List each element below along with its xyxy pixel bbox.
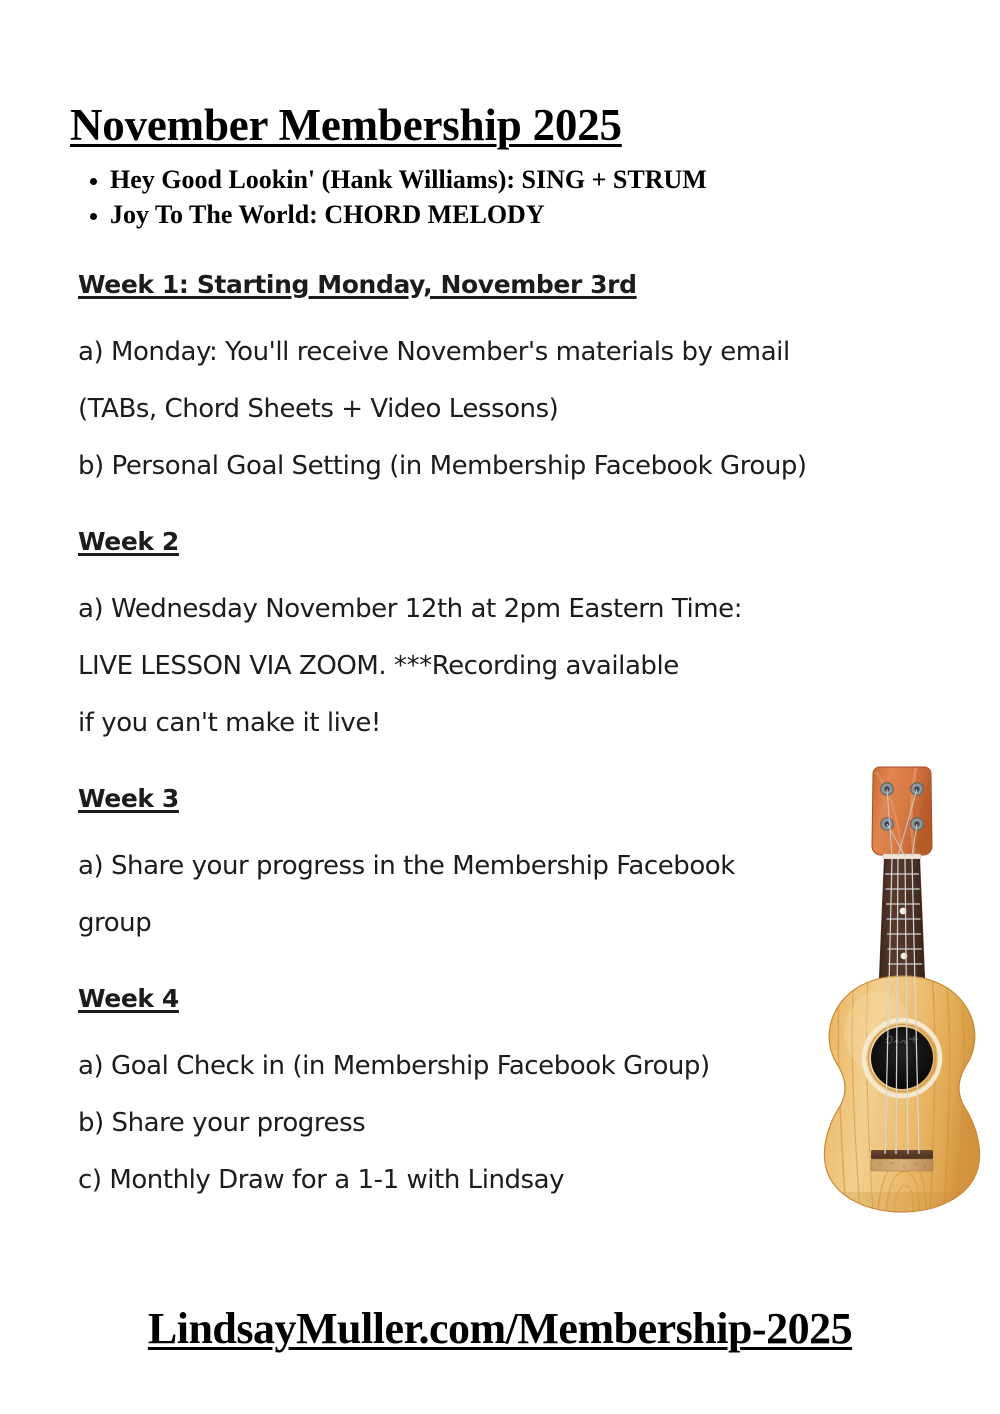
week-2-line-a: a) Wednesday November 12th at 2pm Easter… (78, 581, 868, 638)
week-4-line-c: c) Monthly Draw for a 1-1 with Lindsay (78, 1152, 868, 1209)
week-2-heading: Week 2 (78, 525, 179, 559)
week-2-line-a-cont-2: if you can't make it live! (78, 695, 868, 752)
week-3-line-a-cont: group (78, 895, 868, 952)
week-2-line-a-cont: LIVE LESSON VIA ZOOM. ***Recording avail… (78, 638, 868, 695)
document-page: November Membership 2025 Hey Good Lookin… (0, 0, 1000, 1414)
week-3-line-a: a) Share your progress in the Membership… (78, 838, 868, 895)
week-4-line-a: a) Goal Check in (in Membership Facebook… (78, 1038, 868, 1095)
bridge (871, 1150, 933, 1171)
week-4-line-b: b) Share your progress (78, 1095, 868, 1152)
week-1-line-b: b) Personal Goal Setting (in Membership … (78, 438, 868, 495)
footer-url-text: LindsayMuller.com/Membership-2025 (148, 1304, 852, 1353)
ukulele-body (806, 972, 998, 1214)
week-1-heading: Week 1: Starting Monday, November 3rd (78, 268, 637, 302)
week-1-line-a: a) Monday: You'll receive November's mat… (78, 324, 868, 381)
week-4-heading: Week 4 (78, 982, 179, 1016)
footer-url: LindsayMuller.com/Membership-2025 (0, 1305, 1000, 1353)
section-week-3: Week 3 a) Share your progress in the Mem… (78, 782, 868, 952)
list-item: Joy To The World: CHORD MELODY (110, 197, 707, 232)
section-week-1: Week 1: Starting Monday, November 3rd a)… (78, 268, 868, 495)
week-1-line-a-cont: (TABs, Chord Sheets + Video Lessons) (78, 381, 868, 438)
section-week-2: Week 2 a) Wednesday November 12th at 2pm… (78, 525, 868, 752)
soundhole (864, 1020, 940, 1096)
song-list: Hey Good Lookin' (Hank Williams): SING +… (72, 162, 707, 232)
list-item: Hey Good Lookin' (Hank Williams): SING +… (110, 162, 707, 197)
ukulele-illustration (806, 762, 998, 1214)
headstock-icon (872, 767, 932, 859)
section-week-4: Week 4 a) Goal Check in (in Membership F… (78, 982, 868, 1209)
week-3-heading: Week 3 (78, 782, 179, 816)
schedule-body: Week 1: Starting Monday, November 3rd a)… (78, 268, 868, 1209)
page-title: November Membership 2025 (70, 102, 622, 150)
